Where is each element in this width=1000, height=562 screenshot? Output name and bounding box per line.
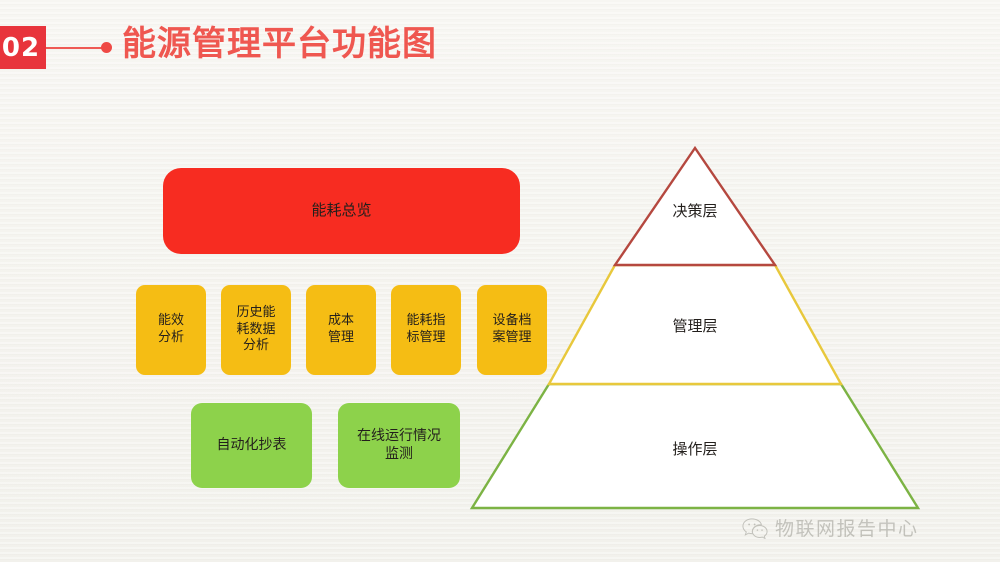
page-title: 能源管理平台功能图 <box>122 22 437 66</box>
function-box-history-data[interactable]: 历史能 耗数据 分析 <box>221 285 291 375</box>
header-bullet-dot <box>101 42 112 53</box>
hierarchy-pyramid: 决策层 管理层 操作层 <box>455 130 935 530</box>
function-box-online-monitoring[interactable]: 在线运行情况 监测 <box>338 403 460 488</box>
header-rule <box>46 47 106 49</box>
watermark-text: 物联网报告中心 <box>775 514 919 541</box>
function-box-auto-meter-reading[interactable]: 自动化抄表 <box>191 403 312 488</box>
watermark: 物联网报告中心 <box>742 514 919 541</box>
slide-canvas: 02 能源管理平台功能图 能耗总览 能效 分析 历史能 耗数据 分析 成本 管理… <box>0 0 1000 562</box>
pyramid-label-management: 管理层 <box>672 315 717 336</box>
function-box-energy-efficiency[interactable]: 能效 分析 <box>136 285 206 375</box>
function-box-cost-management[interactable]: 成本 管理 <box>306 285 376 375</box>
wechat-icon <box>742 517 768 539</box>
function-box-energy-index[interactable]: 能耗指 标管理 <box>391 285 461 375</box>
pyramid-label-operations: 操作层 <box>672 438 717 459</box>
pyramid-label-decision: 决策层 <box>672 200 717 221</box>
section-number-badge: 02 <box>0 26 46 69</box>
